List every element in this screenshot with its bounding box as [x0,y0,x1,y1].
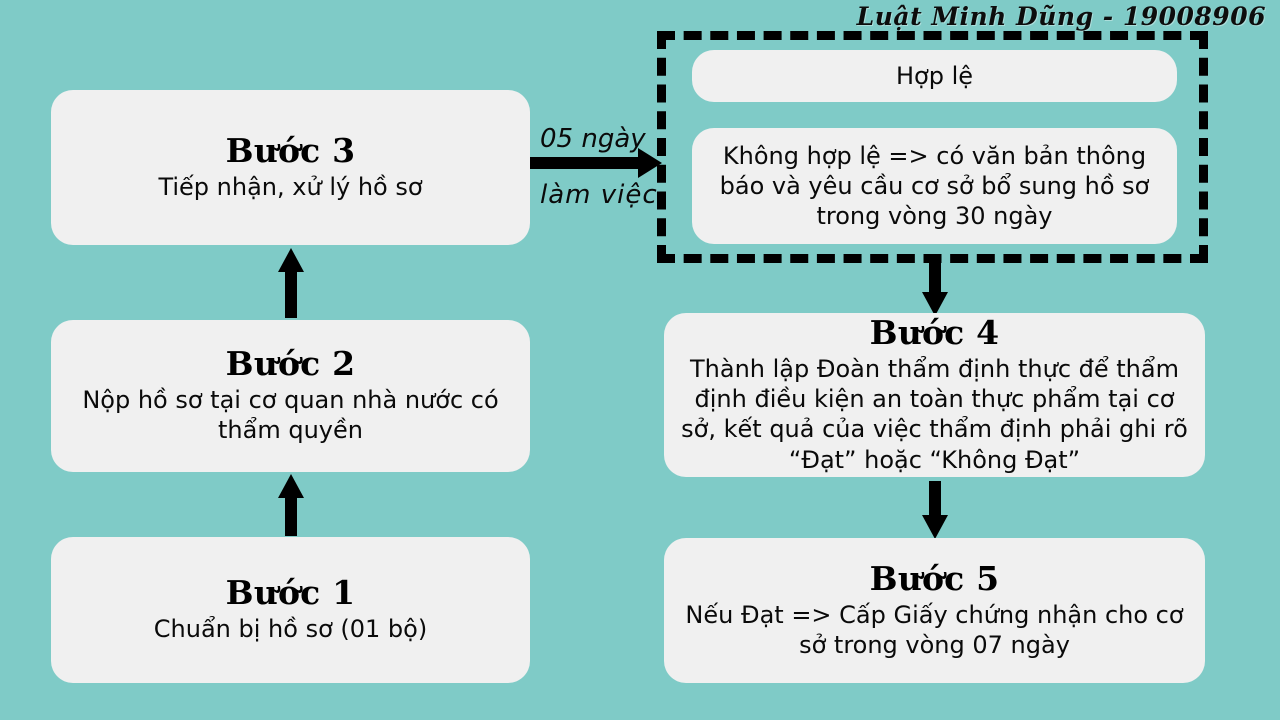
card-body: Thành lập Đoàn thẩm định thực để thẩm đị… [680,354,1189,475]
arrow-down-step4-to-step5 [915,481,955,539]
card-body: Tiếp nhận, xử lý hồ sơ [158,172,422,202]
card-body: Nếu Đạt => Cấp Giấy chứng nhận cho cơ sở… [680,600,1189,660]
arrow-right-step3-to-group [530,148,662,178]
diagram-canvas: Luật Minh Dũng - 19008906 Bước 3 Tiếp nh… [0,0,1280,720]
card-hop-le[interactable]: Hợp lệ [692,50,1177,102]
card-buoc-2[interactable]: Bước 2 Nộp hồ sơ tại cơ quan nhà nước có… [51,320,530,472]
arrow-down-group-to-step4 [915,258,955,316]
card-buoc-5[interactable]: Bước 5 Nếu Đạt => Cấp Giấy chứng nhận ch… [664,538,1205,683]
card-title: Bước 1 [226,575,356,612]
card-khong-hop-le[interactable]: Không hợp lệ => có văn bản thông báo và … [692,128,1177,244]
card-body: Hợp lệ [896,61,973,91]
card-body: Chuẩn bị hồ sơ (01 bộ) [154,614,427,644]
card-title: Bước 4 [870,315,1000,352]
card-title: Bước 3 [226,133,356,170]
arrow-up-step2-to-step3 [271,248,311,318]
card-buoc-1[interactable]: Bước 1 Chuẩn bị hồ sơ (01 bộ) [51,537,530,683]
card-buoc-4[interactable]: Bước 4 Thành lập Đoàn thẩm định thực để … [664,313,1205,477]
arrow-up-step1-to-step2 [271,474,311,536]
card-body: Không hợp lệ => có văn bản thông báo và … [708,141,1161,232]
card-body: Nộp hồ sơ tại cơ quan nhà nước có thẩm q… [67,385,514,445]
card-title: Bước 5 [870,561,1000,598]
connector-label-line-2: làm việc [540,180,658,210]
watermark-text: Luật Minh Dũng - 19008906 [857,2,1266,31]
card-buoc-3[interactable]: Bước 3 Tiếp nhận, xử lý hồ sơ [51,90,530,245]
card-title: Bước 2 [226,346,356,383]
